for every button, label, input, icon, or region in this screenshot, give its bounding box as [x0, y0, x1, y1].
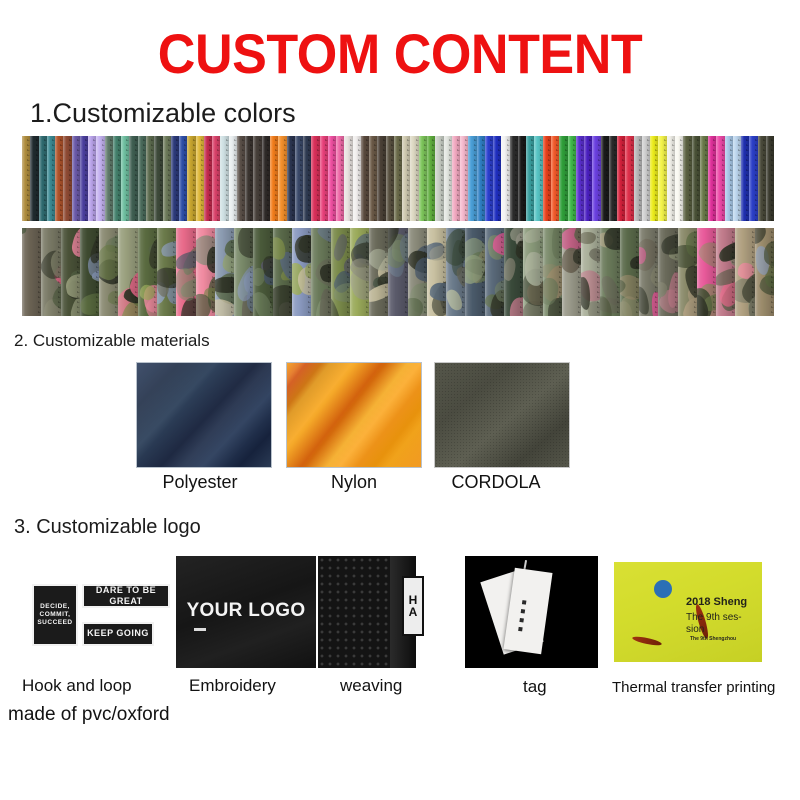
camo-swatch: [196, 228, 215, 316]
camo-swatch: [658, 228, 677, 316]
color-swatch: [171, 136, 179, 221]
camo-swatch: [427, 228, 446, 316]
camo-swatch: [678, 228, 697, 316]
color-swatch: [121, 136, 129, 221]
logo-caption-hook-and-loop: Hook and loop: [22, 676, 132, 696]
color-swatch: [163, 136, 171, 221]
camo-swatch: [716, 228, 735, 316]
color-swatch: [402, 136, 410, 221]
camo-swatch: [408, 228, 427, 316]
color-swatch: [692, 136, 700, 221]
section-heading-logo: 3. Customizable logo: [14, 516, 201, 539]
color-swatch: [295, 136, 303, 221]
camo-swatch: [215, 228, 234, 316]
camo-swatch: [755, 228, 774, 316]
color-swatch: [237, 136, 245, 221]
embroidery-your-logo-text: YOUR LOGO: [176, 600, 316, 622]
camo-swatch: [22, 228, 41, 316]
color-swatch: [96, 136, 104, 221]
camo-swatch: [735, 228, 754, 316]
camo-swatch: [99, 228, 118, 316]
color-swatch: [377, 136, 385, 221]
section-heading-colors: 1.Customizable colors: [30, 98, 296, 129]
color-swatch: [493, 136, 501, 221]
thermal-print-line-4: The 9th Shengzhou: [690, 636, 736, 642]
embroidery-stitch-mark: [194, 628, 206, 631]
color-swatch: [344, 136, 352, 221]
color-swatch: [617, 136, 625, 221]
color-swatch: [212, 136, 220, 221]
color-swatch: [320, 136, 328, 221]
hook-and-loop-material-note: made of pvc/oxford: [8, 704, 170, 726]
camo-swatch: [485, 228, 504, 316]
color-swatch: [394, 136, 402, 221]
patch-line-3: SUCCEED: [37, 619, 72, 627]
color-swatch: [204, 136, 212, 221]
section-heading-materials: 2. Customizable materials: [14, 331, 210, 351]
color-swatch: [220, 136, 228, 221]
camo-swatch-strip: [22, 228, 774, 316]
thermal-print-fabric-image: 2018 Sheng The 9th ses- sion The 9th She…: [614, 562, 762, 662]
camo-swatch: [331, 228, 350, 316]
logo-tile-hook-and-loop: DECIDE, COMMIT, SUCCEED DARE TO BE GREAT…: [14, 556, 174, 668]
color-swatch: [683, 136, 691, 221]
color-swatch: [179, 136, 187, 221]
logo-tile-thermal-transfer: 2018 Sheng The 9th ses- sion The 9th She…: [608, 556, 768, 668]
logo-tile-weaving: H A: [318, 556, 461, 668]
camo-swatch: [61, 228, 80, 316]
color-swatch: [229, 136, 237, 221]
color-swatch: [634, 136, 642, 221]
color-swatch: [154, 136, 162, 221]
nylon-fabric-image: [287, 363, 421, 467]
camo-swatch: [600, 228, 619, 316]
color-swatch: [410, 136, 418, 221]
color-swatch: [88, 136, 96, 221]
color-swatch: [386, 136, 394, 221]
camo-swatch: [639, 228, 658, 316]
color-swatch: [245, 136, 253, 221]
thermal-print-line-3: sion: [686, 624, 704, 635]
color-swatch: [129, 136, 137, 221]
color-swatch: [187, 136, 195, 221]
color-swatch: [270, 136, 278, 221]
color-swatch: [559, 136, 567, 221]
camo-swatch: [273, 228, 292, 316]
camo-swatch: [80, 228, 99, 316]
logo-caption-tag: tag: [523, 677, 547, 697]
material-label-cordola: CORDOLA: [428, 472, 564, 493]
camo-swatch: [446, 228, 465, 316]
color-swatch: [369, 136, 377, 221]
color-swatch: [278, 136, 286, 221]
camo-swatch: [350, 228, 369, 316]
blue-dot-mark: [654, 580, 672, 598]
logo-tile-tag: [465, 556, 598, 668]
patch-line-2: COMMIT,: [40, 611, 71, 619]
color-swatch: [568, 136, 576, 221]
color-swatch: [47, 136, 55, 221]
color-swatch: [510, 136, 518, 221]
color-swatch: [63, 136, 71, 221]
material-label-polyester: Polyester: [132, 472, 268, 493]
camo-swatch: [234, 228, 253, 316]
logo-caption-weaving: weaving: [340, 676, 402, 696]
color-swatch: [30, 136, 38, 221]
color-swatch: [39, 136, 47, 221]
color-swatch: [584, 136, 592, 221]
color-swatch: [576, 136, 584, 221]
material-label-nylon: Nylon: [286, 472, 422, 493]
color-swatch: [444, 136, 452, 221]
color-swatch: [675, 136, 683, 221]
color-swatch: [658, 136, 666, 221]
color-swatch: [138, 136, 146, 221]
color-swatch: [601, 136, 609, 221]
color-swatch: [518, 136, 526, 221]
color-swatch: [262, 136, 270, 221]
color-swatch: [105, 136, 113, 221]
color-swatch: [55, 136, 63, 221]
color-swatch: [427, 136, 435, 221]
color-swatch: [749, 136, 757, 221]
camo-swatch: [311, 228, 330, 316]
color-swatch: [419, 136, 427, 221]
color-swatch-strip: [22, 136, 774, 221]
camo-swatch: [388, 228, 407, 316]
material-card-cordola: [434, 362, 570, 468]
camo-swatch: [157, 228, 176, 316]
color-swatch: [725, 136, 733, 221]
page-root: CUSTOM CONTENT 1.Customizable colors 2. …: [0, 0, 800, 800]
color-swatch: [609, 136, 617, 221]
materials-row: Polyester Nylon CORDOLA: [136, 362, 566, 502]
color-swatch: [353, 136, 361, 221]
woven-label: H A: [402, 576, 424, 636]
thermal-print-line-1: 2018 Sheng: [686, 596, 747, 608]
chili-graphic-1: [632, 635, 663, 647]
camo-swatch: [369, 228, 388, 316]
color-swatch: [700, 136, 708, 221]
color-swatch: [534, 136, 542, 221]
camo-swatch: [697, 228, 716, 316]
color-swatch: [551, 136, 559, 221]
patch-keep-going: KEEP GOING: [82, 622, 154, 646]
color-swatch: [328, 136, 336, 221]
color-swatch: [196, 136, 204, 221]
camo-swatch: [41, 228, 60, 316]
camo-swatch: [292, 228, 311, 316]
camo-swatch: [138, 228, 157, 316]
color-swatch: [468, 136, 476, 221]
color-swatch: [667, 136, 675, 221]
camo-swatch: [581, 228, 600, 316]
logo-caption-embroidery: Embroidery: [189, 676, 276, 696]
material-card-nylon: [286, 362, 422, 468]
logo-tiles-row: DECIDE, COMMIT, SUCCEED DARE TO BE GREAT…: [0, 556, 800, 676]
color-swatch: [741, 136, 749, 221]
color-swatch: [336, 136, 344, 221]
color-swatch: [22, 136, 30, 221]
color-swatch: [146, 136, 154, 221]
color-swatch: [80, 136, 88, 221]
color-swatch: [361, 136, 369, 221]
thermal-print-line-2: The 9th ses-: [686, 612, 742, 623]
color-swatch: [303, 136, 311, 221]
color-swatch: [311, 136, 319, 221]
color-swatch: [501, 136, 509, 221]
color-swatch: [253, 136, 261, 221]
page-title: CUSTOM CONTENT: [28, 26, 772, 82]
color-swatch: [642, 136, 650, 221]
camo-swatch: [253, 228, 272, 316]
patch-decide-commit-succeed: DECIDE, COMMIT, SUCCEED: [32, 584, 78, 646]
tag-printed-dots: [517, 595, 529, 636]
camo-swatch: [562, 228, 581, 316]
woven-label-line-2: A: [409, 606, 418, 618]
color-swatch: [733, 136, 741, 221]
color-swatch: [766, 136, 774, 221]
color-swatch: [477, 136, 485, 221]
color-swatch: [758, 136, 766, 221]
camo-swatch: [523, 228, 542, 316]
camo-swatch: [620, 228, 639, 316]
color-swatch: [452, 136, 460, 221]
polyester-fabric-image: [137, 363, 271, 467]
camo-swatch: [176, 228, 195, 316]
color-swatch: [287, 136, 295, 221]
material-card-polyester: [136, 362, 272, 468]
color-swatch: [543, 136, 551, 221]
logo-caption-thermal-transfer: Thermal transfer printing: [612, 679, 775, 696]
color-swatch: [435, 136, 443, 221]
color-swatch: [485, 136, 493, 221]
camo-swatch: [504, 228, 523, 316]
camo-swatch: [543, 228, 562, 316]
color-swatch: [625, 136, 633, 221]
patch-dare-to-be-great: DARE TO BE GREAT: [82, 584, 170, 608]
logo-tile-embroidery: YOUR LOGO: [176, 556, 316, 668]
color-swatch: [460, 136, 468, 221]
color-swatch: [708, 136, 716, 221]
color-swatch: [113, 136, 121, 221]
patch-line-1: DECIDE,: [40, 603, 70, 611]
camo-swatch: [465, 228, 484, 316]
color-swatch: [72, 136, 80, 221]
color-swatch: [592, 136, 600, 221]
color-swatch: [526, 136, 534, 221]
color-swatch: [716, 136, 724, 221]
cordola-fabric-image: [435, 363, 569, 467]
color-swatch: [650, 136, 658, 221]
camo-swatch: [118, 228, 137, 316]
